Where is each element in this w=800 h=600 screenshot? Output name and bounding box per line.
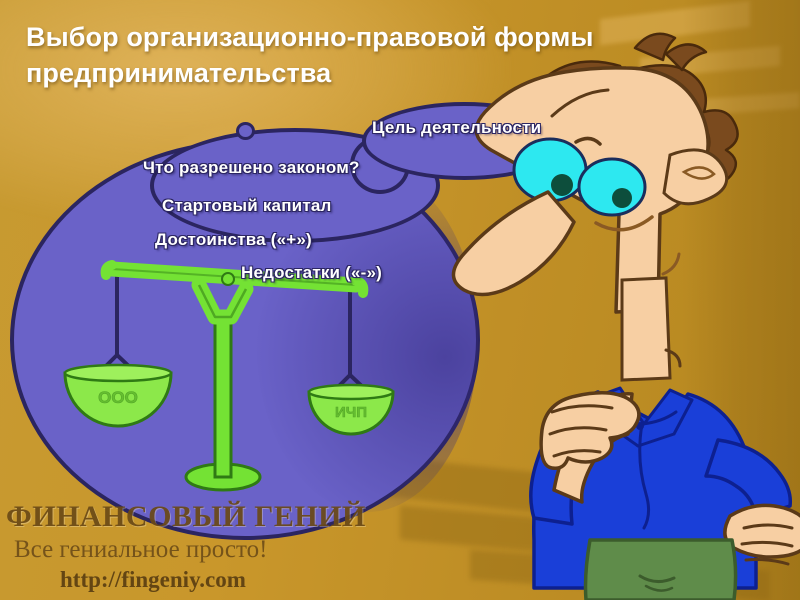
scale-pan-left: ООО — [65, 365, 171, 426]
thinking-man-illustration — [430, 20, 800, 600]
bubble-label-capital: Стартовый капитал — [162, 196, 332, 216]
eye-right — [579, 159, 645, 215]
chin-line — [663, 254, 679, 274]
ear — [664, 150, 727, 204]
bubble-label-cons: Недостатки («-») — [241, 263, 382, 283]
thought-bubble-dot — [236, 122, 255, 140]
slide-canvas: ООО ИЧП Цель деятельности Что разрешено … — [0, 0, 800, 600]
watermark-brand: ФИНАНСОВЫЙ ГЕНИЙ — [0, 500, 420, 534]
balance-scales-illustration: ООО ИЧП — [60, 255, 410, 500]
bubble-label-goal: Цель деятельности — [372, 118, 541, 138]
page-title-line-2: предпринимательства — [26, 56, 706, 92]
scale-pan-left-label: ООО — [98, 388, 138, 407]
scale-column — [215, 313, 231, 477]
nose — [453, 192, 574, 295]
page-title-line-1: Выбор организационно-правовой формы — [26, 20, 706, 56]
bubble-label-law: Что разрешено законом? — [143, 158, 360, 178]
watermark: ФИНАНСОВЫЙ ГЕНИЙ Все гениальное просто! … — [0, 500, 420, 593]
scale-pan-right-label: ИЧП — [335, 404, 367, 421]
neck — [622, 278, 670, 380]
bubble-label-pros: Достоинства («+») — [155, 230, 312, 250]
page-title: Выбор организационно-правовой формы пред… — [26, 20, 706, 91]
watermark-url: http://fingeniy.com — [0, 567, 420, 593]
scale-pan-right: ИЧП — [309, 385, 393, 434]
watermark-slogan: Все гениальное просто! — [0, 536, 420, 564]
